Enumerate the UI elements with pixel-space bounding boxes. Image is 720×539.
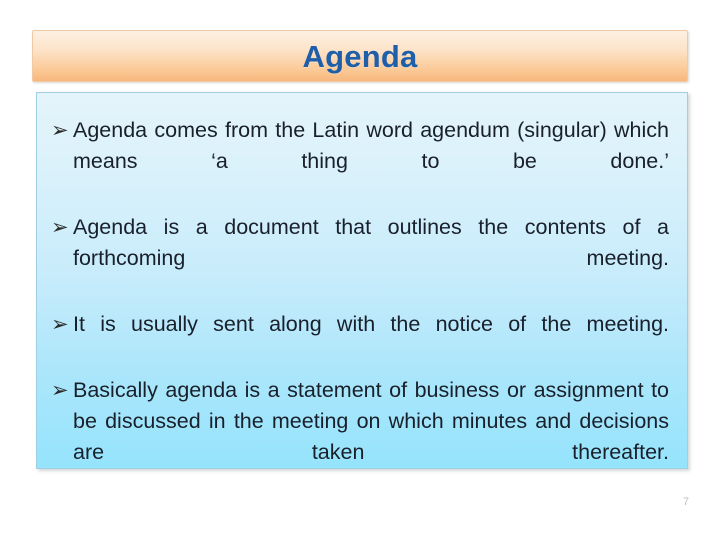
page-title: Agenda: [303, 41, 418, 72]
bullet-list: ➢ Agenda comes from the Latin word agend…: [49, 115, 673, 499]
list-item: ➢ Basically agenda is a statement of bus…: [49, 375, 673, 499]
list-item-text: Basically agenda is a statement of busin…: [73, 375, 673, 499]
list-item: ➢ It is usually sent along with the noti…: [49, 309, 673, 371]
arrow-bullet-icon: ➢: [49, 212, 73, 243]
arrow-bullet-icon: ➢: [49, 375, 73, 406]
arrow-bullet-icon: ➢: [49, 309, 73, 340]
presentation-slide: Agenda ➢ Agenda comes from the Latin wor…: [0, 0, 720, 539]
slide-title-bar: Agenda: [32, 30, 688, 82]
arrow-bullet-icon: ➢: [49, 115, 73, 146]
list-item: ➢ Agenda comes from the Latin word agend…: [49, 115, 673, 208]
list-item-text: Agenda comes from the Latin word agendum…: [73, 115, 673, 208]
list-item-text: It is usually sent along with the notice…: [73, 309, 673, 371]
list-item: ➢ Agenda is a document that outlines the…: [49, 212, 673, 305]
slide-content-box: ➢ Agenda comes from the Latin word agend…: [36, 92, 688, 469]
slide-page-number: 7: [683, 496, 689, 508]
list-item-text: Agenda is a document that outlines the c…: [73, 212, 673, 305]
